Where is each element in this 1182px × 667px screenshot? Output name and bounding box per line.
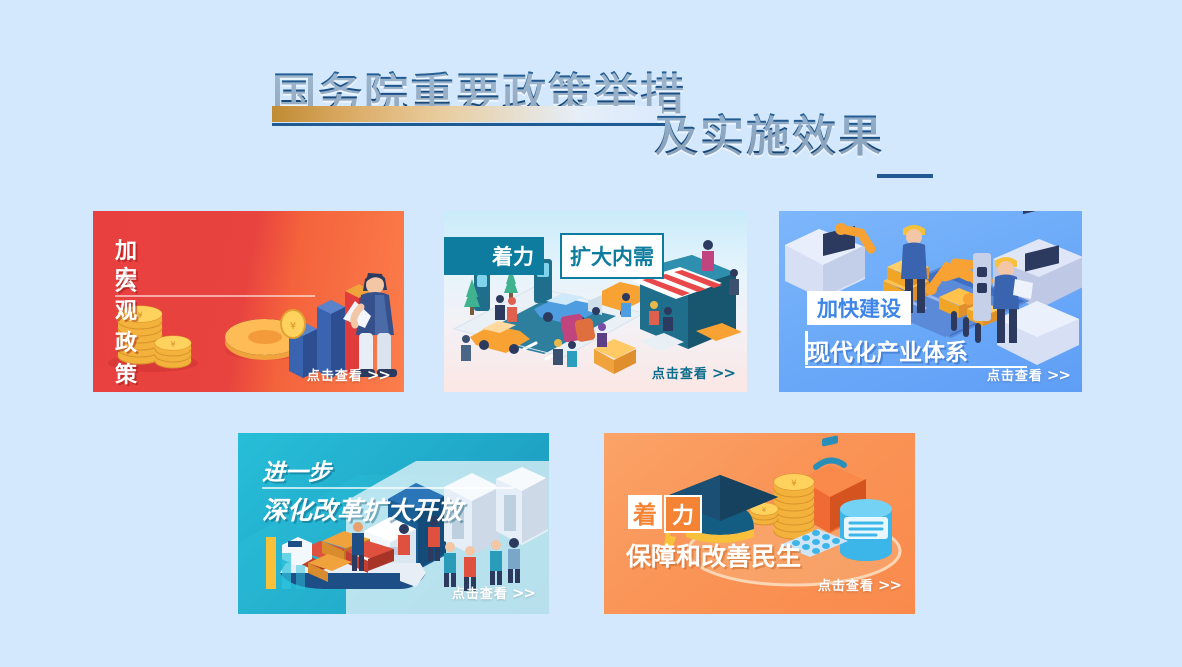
card-demand-cta-arrows: >> (712, 364, 735, 382)
svg-text:¥: ¥ (762, 506, 767, 514)
card-welfare-cta-arrows: >> (878, 576, 901, 594)
svg-text:¥: ¥ (791, 479, 797, 489)
card-macro-underline (115, 295, 315, 297)
card-expand-demand[interactable]: 着力 扩大内需 点击查看>> (444, 211, 747, 392)
title-rule (272, 123, 670, 126)
card-demand-cta[interactable]: 点击查看>> (652, 363, 735, 382)
card-reform-cta-label: 点击查看 (452, 587, 508, 602)
card-industry-tag: 加快建设 (807, 291, 911, 325)
svg-text:¥: ¥ (137, 311, 143, 321)
card-macro-cta-label: 点击查看 (307, 369, 363, 384)
card-macro-cta[interactable]: 点击查看>> (307, 365, 390, 384)
card-macro-policy[interactable]: ¥ ¥ (93, 211, 404, 392)
card-reform-cta-arrows: >> (512, 584, 535, 602)
card-reform-cta[interactable]: 点击查看>> (452, 583, 535, 602)
card-demand-tag-secondary: 扩大内需 (560, 233, 664, 279)
card-industry-cta-label: 点击查看 (987, 369, 1043, 384)
card-macro-cta-arrows: >> (367, 366, 390, 384)
title-dash (877, 174, 933, 178)
card-industry-cta[interactable]: 点击查看>> (987, 365, 1070, 384)
card-industry-line2: 现代化产业体系 (807, 333, 968, 367)
svg-text:¥: ¥ (290, 321, 296, 332)
card-welfare-cta[interactable]: 点击查看>> (818, 575, 901, 594)
card-peoples-livelihood[interactable]: ¥ ¥ (604, 433, 915, 614)
svg-text:¥: ¥ (170, 340, 175, 349)
card-macro-line2: 宏观政策调控力度 (115, 261, 137, 392)
card-welfare-line2: 保障和改善民生 (626, 537, 801, 573)
card-welfare-char-a-box: 着 (628, 495, 662, 529)
title-line-2: 及实施效果 (654, 100, 884, 164)
title-gold-bar (272, 106, 662, 122)
card-welfare-cta-label: 点击查看 (818, 579, 874, 594)
card-demand-line1: 着力 (492, 241, 534, 271)
card-welfare-char-a: 着 (633, 495, 657, 530)
card-reform-line2: 深化改革扩大开放 (262, 491, 462, 527)
card-demand-cta-label: 点击查看 (652, 367, 708, 382)
card-welfare-char-b: 力 (672, 498, 694, 530)
card-industry-line1: 加快建设 (817, 293, 901, 323)
card-industry-cta-arrows: >> (1047, 366, 1070, 384)
card-reform-underline (262, 487, 514, 489)
card-reform-line1: 进一步 (262, 453, 331, 487)
card-reform-opening[interactable]: 进一步 深化改革扩大开放 点击查看>> (238, 433, 549, 614)
card-demand-tag-primary: 着力 (444, 237, 544, 275)
card-welfare-char-b-box: 力 (664, 495, 702, 533)
card-demand-line2: 扩大内需 (570, 241, 654, 271)
card-industrial-system[interactable]: 加快建设 现代化产业体系 点击查看>> (779, 211, 1082, 392)
page-title: 国务院重要政策举措 及实施效果 (0, 50, 1182, 160)
